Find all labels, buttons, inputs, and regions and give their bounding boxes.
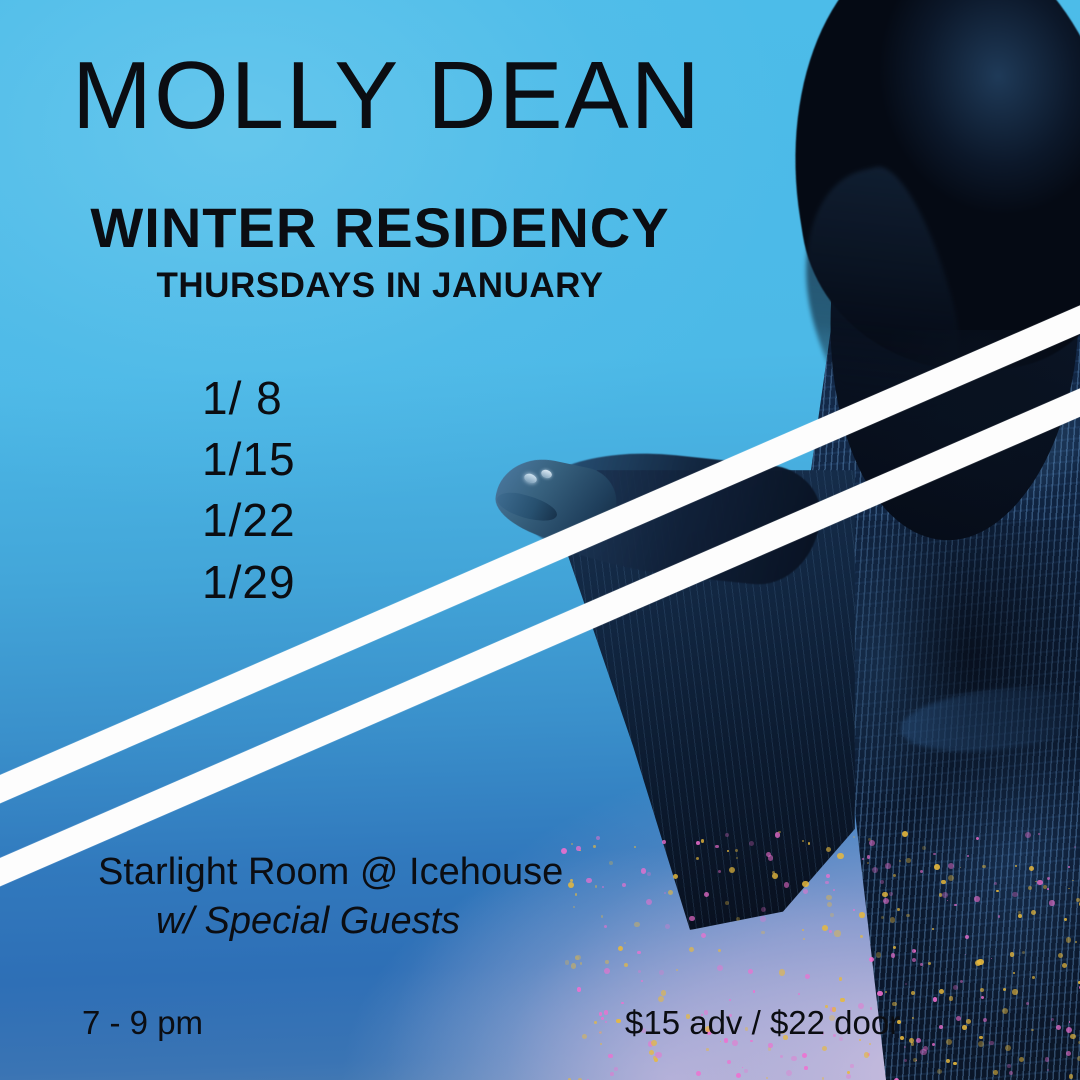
confetti-dot bbox=[1012, 892, 1018, 898]
confetti-dot bbox=[912, 1017, 914, 1019]
confetti-dot bbox=[621, 1002, 623, 1004]
confetti-dot bbox=[947, 900, 949, 902]
confetti-dot bbox=[891, 953, 896, 958]
date-item: 1/ 8 bbox=[202, 368, 296, 429]
confetti-dot bbox=[593, 845, 596, 848]
confetti-dot bbox=[1003, 988, 1006, 991]
confetti-dot bbox=[927, 1063, 929, 1065]
confetti-dot bbox=[1069, 1074, 1074, 1079]
confetti-dot bbox=[869, 1043, 871, 1045]
confetti-dot bbox=[736, 857, 738, 859]
confetti-dot bbox=[975, 960, 981, 966]
confetti-dot bbox=[749, 841, 754, 846]
confetti-dot bbox=[859, 912, 865, 918]
confetti-dot bbox=[601, 915, 603, 917]
confetti-dot bbox=[830, 913, 834, 917]
confetti-dot bbox=[904, 1059, 908, 1063]
confetti-dot bbox=[826, 895, 832, 901]
confetti-dot bbox=[661, 990, 666, 995]
confetti-dot bbox=[911, 991, 915, 995]
confetti-dot bbox=[595, 885, 598, 888]
confetti-dot bbox=[575, 955, 581, 961]
confetti-dot bbox=[601, 1017, 604, 1020]
show-time: 7 - 9 pm bbox=[82, 1004, 203, 1042]
confetti-dot bbox=[885, 863, 890, 868]
confetti-dot bbox=[803, 938, 805, 940]
confetti-dot bbox=[805, 974, 810, 979]
confetti-dot bbox=[1010, 952, 1015, 957]
confetti-dot bbox=[803, 889, 808, 894]
confetti-dot bbox=[840, 998, 844, 1002]
confetti-dot bbox=[1002, 1008, 1008, 1014]
confetti-dot bbox=[608, 1054, 612, 1058]
confetti-dot bbox=[934, 864, 940, 870]
date-item: 1/15 bbox=[202, 429, 296, 490]
confetti-dot bbox=[634, 922, 640, 928]
confetti-dot bbox=[937, 1069, 943, 1075]
confetti-dot bbox=[1074, 846, 1077, 849]
confetti-dot bbox=[742, 1067, 744, 1069]
confetti-dot bbox=[996, 890, 999, 893]
confetti-dot bbox=[826, 847, 831, 852]
confetti-dot bbox=[718, 949, 721, 952]
confetti-dot bbox=[772, 873, 778, 879]
confetti-dot bbox=[920, 870, 923, 873]
confetti-dot bbox=[638, 970, 641, 973]
confetti-dot bbox=[1018, 914, 1022, 918]
confetti-dot bbox=[729, 999, 731, 1001]
confetti-dot bbox=[786, 1070, 792, 1076]
confetti-dot bbox=[948, 875, 954, 881]
confetti-dot bbox=[939, 989, 944, 994]
confetti-dot bbox=[860, 935, 863, 938]
confetti-dot bbox=[647, 872, 651, 876]
confetti-dot bbox=[880, 880, 884, 884]
confetti-dot bbox=[885, 991, 887, 993]
confetti-dot bbox=[760, 916, 766, 922]
date-item: 1/22 bbox=[202, 490, 296, 551]
confetti-dot bbox=[778, 831, 781, 834]
confetti-dot bbox=[960, 980, 963, 983]
confetti-dot bbox=[766, 1077, 768, 1079]
confetti-dot bbox=[1013, 972, 1015, 974]
confetti-dot bbox=[1070, 1034, 1076, 1040]
confetti-dot bbox=[949, 996, 954, 1001]
confetti-dot bbox=[727, 850, 729, 852]
confetti-dot bbox=[1012, 989, 1018, 995]
confetti-dot bbox=[618, 946, 623, 951]
confetti-dot bbox=[922, 846, 926, 850]
confetti-dot bbox=[954, 904, 956, 906]
event-poster: MOLLY DEAN WINTER RESIDENCY THURSDAYS IN… bbox=[0, 0, 1080, 1080]
confetti-dot bbox=[962, 1025, 967, 1030]
confetti-dot bbox=[899, 860, 901, 862]
confetti-dot bbox=[696, 1071, 701, 1076]
confetti-dot bbox=[822, 925, 829, 932]
confetti-dot bbox=[953, 1062, 956, 1065]
confetti-dot bbox=[718, 870, 721, 873]
date-item: 1/29 bbox=[202, 552, 296, 613]
confetti-dot bbox=[1047, 888, 1049, 890]
confetti-dot bbox=[571, 963, 576, 968]
confetti-dot bbox=[616, 1019, 621, 1024]
confetti-dot bbox=[946, 1039, 952, 1045]
confetti-dot bbox=[725, 833, 729, 837]
confetti-dot bbox=[837, 853, 843, 859]
confetti-dot bbox=[923, 1046, 928, 1051]
confetti-dot bbox=[594, 1021, 597, 1024]
confetti-dot bbox=[827, 902, 832, 907]
confetti-dot bbox=[906, 914, 909, 917]
confetti-dot bbox=[735, 849, 738, 852]
confetti-dot bbox=[604, 925, 607, 928]
confetti-dot bbox=[1068, 888, 1070, 890]
confetti-dot bbox=[1028, 886, 1032, 890]
confetti-dot bbox=[1066, 1027, 1072, 1033]
confetti-dot bbox=[577, 987, 582, 992]
confetti-dot bbox=[902, 831, 908, 837]
confetti-dot bbox=[864, 1052, 870, 1058]
confetti-dot bbox=[1077, 1056, 1080, 1061]
confetti-dot bbox=[668, 890, 673, 895]
confetti-dot bbox=[913, 1058, 917, 1062]
confetti-dot bbox=[576, 846, 581, 851]
confetti-dot bbox=[1026, 1002, 1029, 1005]
confetti-dot bbox=[906, 858, 911, 863]
confetti-dot bbox=[1031, 1029, 1033, 1031]
confetti-dot bbox=[614, 1067, 618, 1071]
confetti-dot bbox=[808, 842, 811, 845]
event-schedule: THURSDAYS IN JANUARY bbox=[0, 268, 1080, 303]
confetti-dot bbox=[826, 874, 830, 878]
confetti-dot bbox=[609, 861, 613, 865]
confetti-dot bbox=[928, 962, 931, 965]
confetti-dot bbox=[761, 931, 765, 935]
confetti-sparkles bbox=[560, 830, 1080, 1080]
confetti-dot bbox=[1066, 937, 1072, 943]
confetti-dot bbox=[768, 1043, 773, 1048]
confetti-dot bbox=[867, 862, 869, 864]
confetti-dot bbox=[991, 958, 993, 960]
confetti-dot bbox=[881, 916, 884, 919]
confetti-dot bbox=[1007, 1064, 1011, 1068]
confetti-dot bbox=[829, 930, 832, 933]
confetti-dot bbox=[965, 935, 969, 939]
confetti-dot bbox=[748, 969, 753, 974]
confetti-dot bbox=[1038, 833, 1040, 835]
confetti-dot bbox=[1037, 880, 1042, 885]
confetti-dot bbox=[911, 1042, 915, 1046]
confetti-dot bbox=[1031, 910, 1036, 915]
confetti-dot bbox=[802, 840, 804, 842]
confetti-dot bbox=[744, 1069, 748, 1073]
confetti-dot bbox=[641, 980, 643, 982]
confetti-dot bbox=[727, 1060, 731, 1064]
confetti-dot bbox=[689, 916, 694, 921]
confetti-dot bbox=[573, 906, 575, 908]
confetti-dot bbox=[596, 836, 600, 840]
confetti-dot bbox=[565, 960, 569, 964]
confetti-dot bbox=[1058, 953, 1063, 958]
confetti-dot bbox=[1066, 1051, 1071, 1056]
confetti-dot bbox=[706, 1048, 709, 1051]
confetti-dot bbox=[916, 1038, 921, 1043]
event-title: WINTER RESIDENCY bbox=[0, 200, 1080, 256]
confetti-dot bbox=[966, 1019, 971, 1024]
confetti-dot bbox=[655, 1052, 661, 1058]
confetti-dot bbox=[1069, 1021, 1071, 1023]
confetti-dot bbox=[877, 991, 883, 997]
confetti-dot bbox=[717, 965, 723, 971]
confetti-dot bbox=[641, 868, 646, 873]
confetti-dot bbox=[580, 962, 582, 964]
confetti-dot bbox=[1062, 963, 1068, 969]
confetti-dot bbox=[1047, 877, 1051, 881]
confetti-dot bbox=[956, 1016, 961, 1021]
confetti-dot bbox=[804, 1066, 808, 1070]
confetti-dot bbox=[604, 1010, 609, 1015]
confetti-dot bbox=[784, 882, 789, 887]
confetti-dot bbox=[982, 865, 986, 869]
confetti-dot bbox=[960, 867, 962, 869]
confetti-dot bbox=[834, 930, 840, 936]
confetti-dot bbox=[736, 1073, 741, 1078]
confetti-dot bbox=[912, 958, 916, 962]
confetti-dot bbox=[605, 1021, 607, 1023]
confetti-dot bbox=[1005, 1045, 1011, 1051]
confetti-dot bbox=[696, 841, 700, 845]
confetti-dot bbox=[662, 840, 666, 844]
confetti-dot bbox=[897, 908, 900, 911]
confetti-dot bbox=[989, 1041, 994, 1046]
confetti-dot bbox=[753, 990, 755, 992]
confetti-dot bbox=[869, 957, 874, 962]
confetti-dot bbox=[889, 892, 894, 897]
confetti-dot bbox=[646, 899, 652, 905]
confetti-dot bbox=[905, 983, 908, 986]
confetti-dot bbox=[729, 867, 735, 873]
confetti-dot bbox=[802, 929, 804, 931]
confetti-dot bbox=[624, 942, 626, 944]
confetti-dot bbox=[1064, 918, 1066, 920]
confetti-dot bbox=[867, 855, 871, 859]
confetti-dot bbox=[1072, 880, 1074, 882]
confetti-dot bbox=[914, 950, 916, 952]
confetti-dot bbox=[1009, 1071, 1013, 1075]
confetti-dot bbox=[904, 1046, 907, 1049]
confetti-dot bbox=[932, 928, 935, 931]
confetti-dot bbox=[1056, 1025, 1061, 1030]
confetti-dot bbox=[965, 954, 967, 956]
confetti-dot bbox=[1025, 832, 1031, 838]
confetti-dot bbox=[582, 1034, 587, 1039]
confetti-dot bbox=[1047, 1069, 1049, 1071]
confetti-dot bbox=[948, 863, 954, 869]
confetti-dot bbox=[1029, 866, 1034, 871]
confetti-dot bbox=[833, 889, 835, 891]
confetti-dot bbox=[994, 882, 998, 886]
confetti-dot bbox=[876, 952, 882, 958]
confetti-dot bbox=[798, 993, 800, 995]
confetti-dot bbox=[850, 1064, 854, 1068]
confetti-dot bbox=[696, 857, 699, 860]
artist-name: MOLLY DEAN bbox=[0, 48, 1080, 144]
venue-block: Starlight Room @ Icehouse w/ Special Gue… bbox=[98, 848, 563, 945]
support-act: w/ Special Guests bbox=[98, 897, 563, 946]
confetti-dot bbox=[983, 1018, 987, 1022]
confetti-dot bbox=[1022, 951, 1026, 955]
confetti-dot bbox=[981, 996, 984, 999]
confetti-dot bbox=[676, 969, 678, 971]
confetti-dot bbox=[802, 881, 808, 887]
confetti-dot bbox=[946, 1059, 950, 1063]
confetti-dot bbox=[1068, 866, 1071, 869]
confetti-dot bbox=[920, 963, 923, 966]
confetti-dot bbox=[853, 836, 855, 838]
date-list: 1/ 81/151/221/29 bbox=[202, 368, 296, 613]
confetti-dot bbox=[1015, 865, 1017, 867]
ticket-price: $15 adv / $22 door bbox=[625, 1004, 900, 1042]
confetti-dot bbox=[822, 1046, 827, 1051]
confetti-dot bbox=[900, 1036, 904, 1040]
confetti-dot bbox=[993, 1070, 998, 1075]
confetti-dot bbox=[1049, 900, 1055, 906]
confetti-dot bbox=[933, 853, 936, 856]
confetti-dot bbox=[978, 1041, 984, 1047]
confetti-dot bbox=[976, 837, 979, 840]
venue-name: Starlight Room @ Icehouse bbox=[98, 851, 563, 893]
confetti-dot bbox=[736, 917, 740, 921]
confetti-dot bbox=[701, 839, 704, 842]
confetti-dot bbox=[725, 901, 729, 905]
confetti-dot bbox=[893, 946, 896, 949]
confetti-dot bbox=[624, 963, 628, 967]
confetti-dot bbox=[853, 909, 855, 911]
confetti-dot bbox=[772, 871, 775, 874]
confetti-dot bbox=[604, 968, 610, 974]
confetti-dot bbox=[953, 985, 959, 991]
confetti-dot bbox=[1019, 1057, 1024, 1062]
confetti-dot bbox=[600, 1043, 602, 1045]
confetti-dot bbox=[599, 1031, 603, 1035]
confetti-dot bbox=[665, 924, 670, 929]
confetti-dot bbox=[932, 1043, 935, 1046]
confetti-dot bbox=[780, 1055, 783, 1058]
confetti-dot bbox=[715, 845, 719, 849]
confetti-dot bbox=[839, 977, 843, 981]
confetti-dot bbox=[605, 960, 609, 964]
confetti-dot bbox=[704, 892, 709, 897]
confetti-dot bbox=[779, 969, 785, 975]
confetti-dot bbox=[649, 1050, 654, 1055]
confetti-dot bbox=[883, 898, 890, 905]
confetti-dot bbox=[933, 997, 938, 1002]
confetti-dot bbox=[791, 1056, 797, 1062]
confetti-dot bbox=[802, 1053, 807, 1058]
confetti-dot bbox=[1051, 1018, 1054, 1021]
confetti-dot bbox=[599, 1012, 603, 1016]
confetti-dot bbox=[890, 917, 896, 923]
confetti-dot bbox=[673, 874, 679, 880]
confetti-dot bbox=[634, 846, 636, 848]
confetti-dot bbox=[974, 896, 980, 902]
confetti-dot bbox=[571, 843, 573, 845]
confetti-dot bbox=[602, 886, 604, 888]
confetti-dot bbox=[1032, 976, 1035, 979]
confetti-dot bbox=[941, 880, 946, 885]
confetti-dot bbox=[701, 933, 707, 939]
confetti-dot bbox=[761, 907, 766, 912]
confetti-dot bbox=[862, 858, 864, 860]
confetti-dot bbox=[610, 1072, 614, 1076]
confetti-dot bbox=[980, 988, 984, 992]
confetti-dot bbox=[979, 1036, 982, 1039]
confetti-dot bbox=[664, 892, 666, 894]
confetti-dot bbox=[893, 874, 896, 877]
confetti-dot bbox=[1075, 941, 1077, 943]
confetti-dot bbox=[846, 1074, 851, 1079]
confetti-dot bbox=[1045, 1057, 1049, 1061]
confetti-dot bbox=[622, 883, 626, 887]
confetti-dot bbox=[658, 996, 664, 1002]
confetti-dot bbox=[872, 867, 878, 873]
confetti-dot bbox=[942, 892, 948, 898]
confetti-dot bbox=[659, 970, 664, 975]
confetti-dot bbox=[689, 947, 694, 952]
confetti-dot bbox=[637, 951, 641, 955]
confetti-dot bbox=[568, 882, 574, 888]
confetti-dot bbox=[998, 915, 1001, 918]
confetti-dot bbox=[825, 881, 829, 885]
confetti-dot bbox=[939, 1025, 943, 1029]
confetti-dot bbox=[882, 892, 888, 898]
confetti-dot bbox=[967, 855, 969, 857]
confetti-dot bbox=[575, 893, 578, 896]
confetti-dot bbox=[586, 878, 592, 884]
